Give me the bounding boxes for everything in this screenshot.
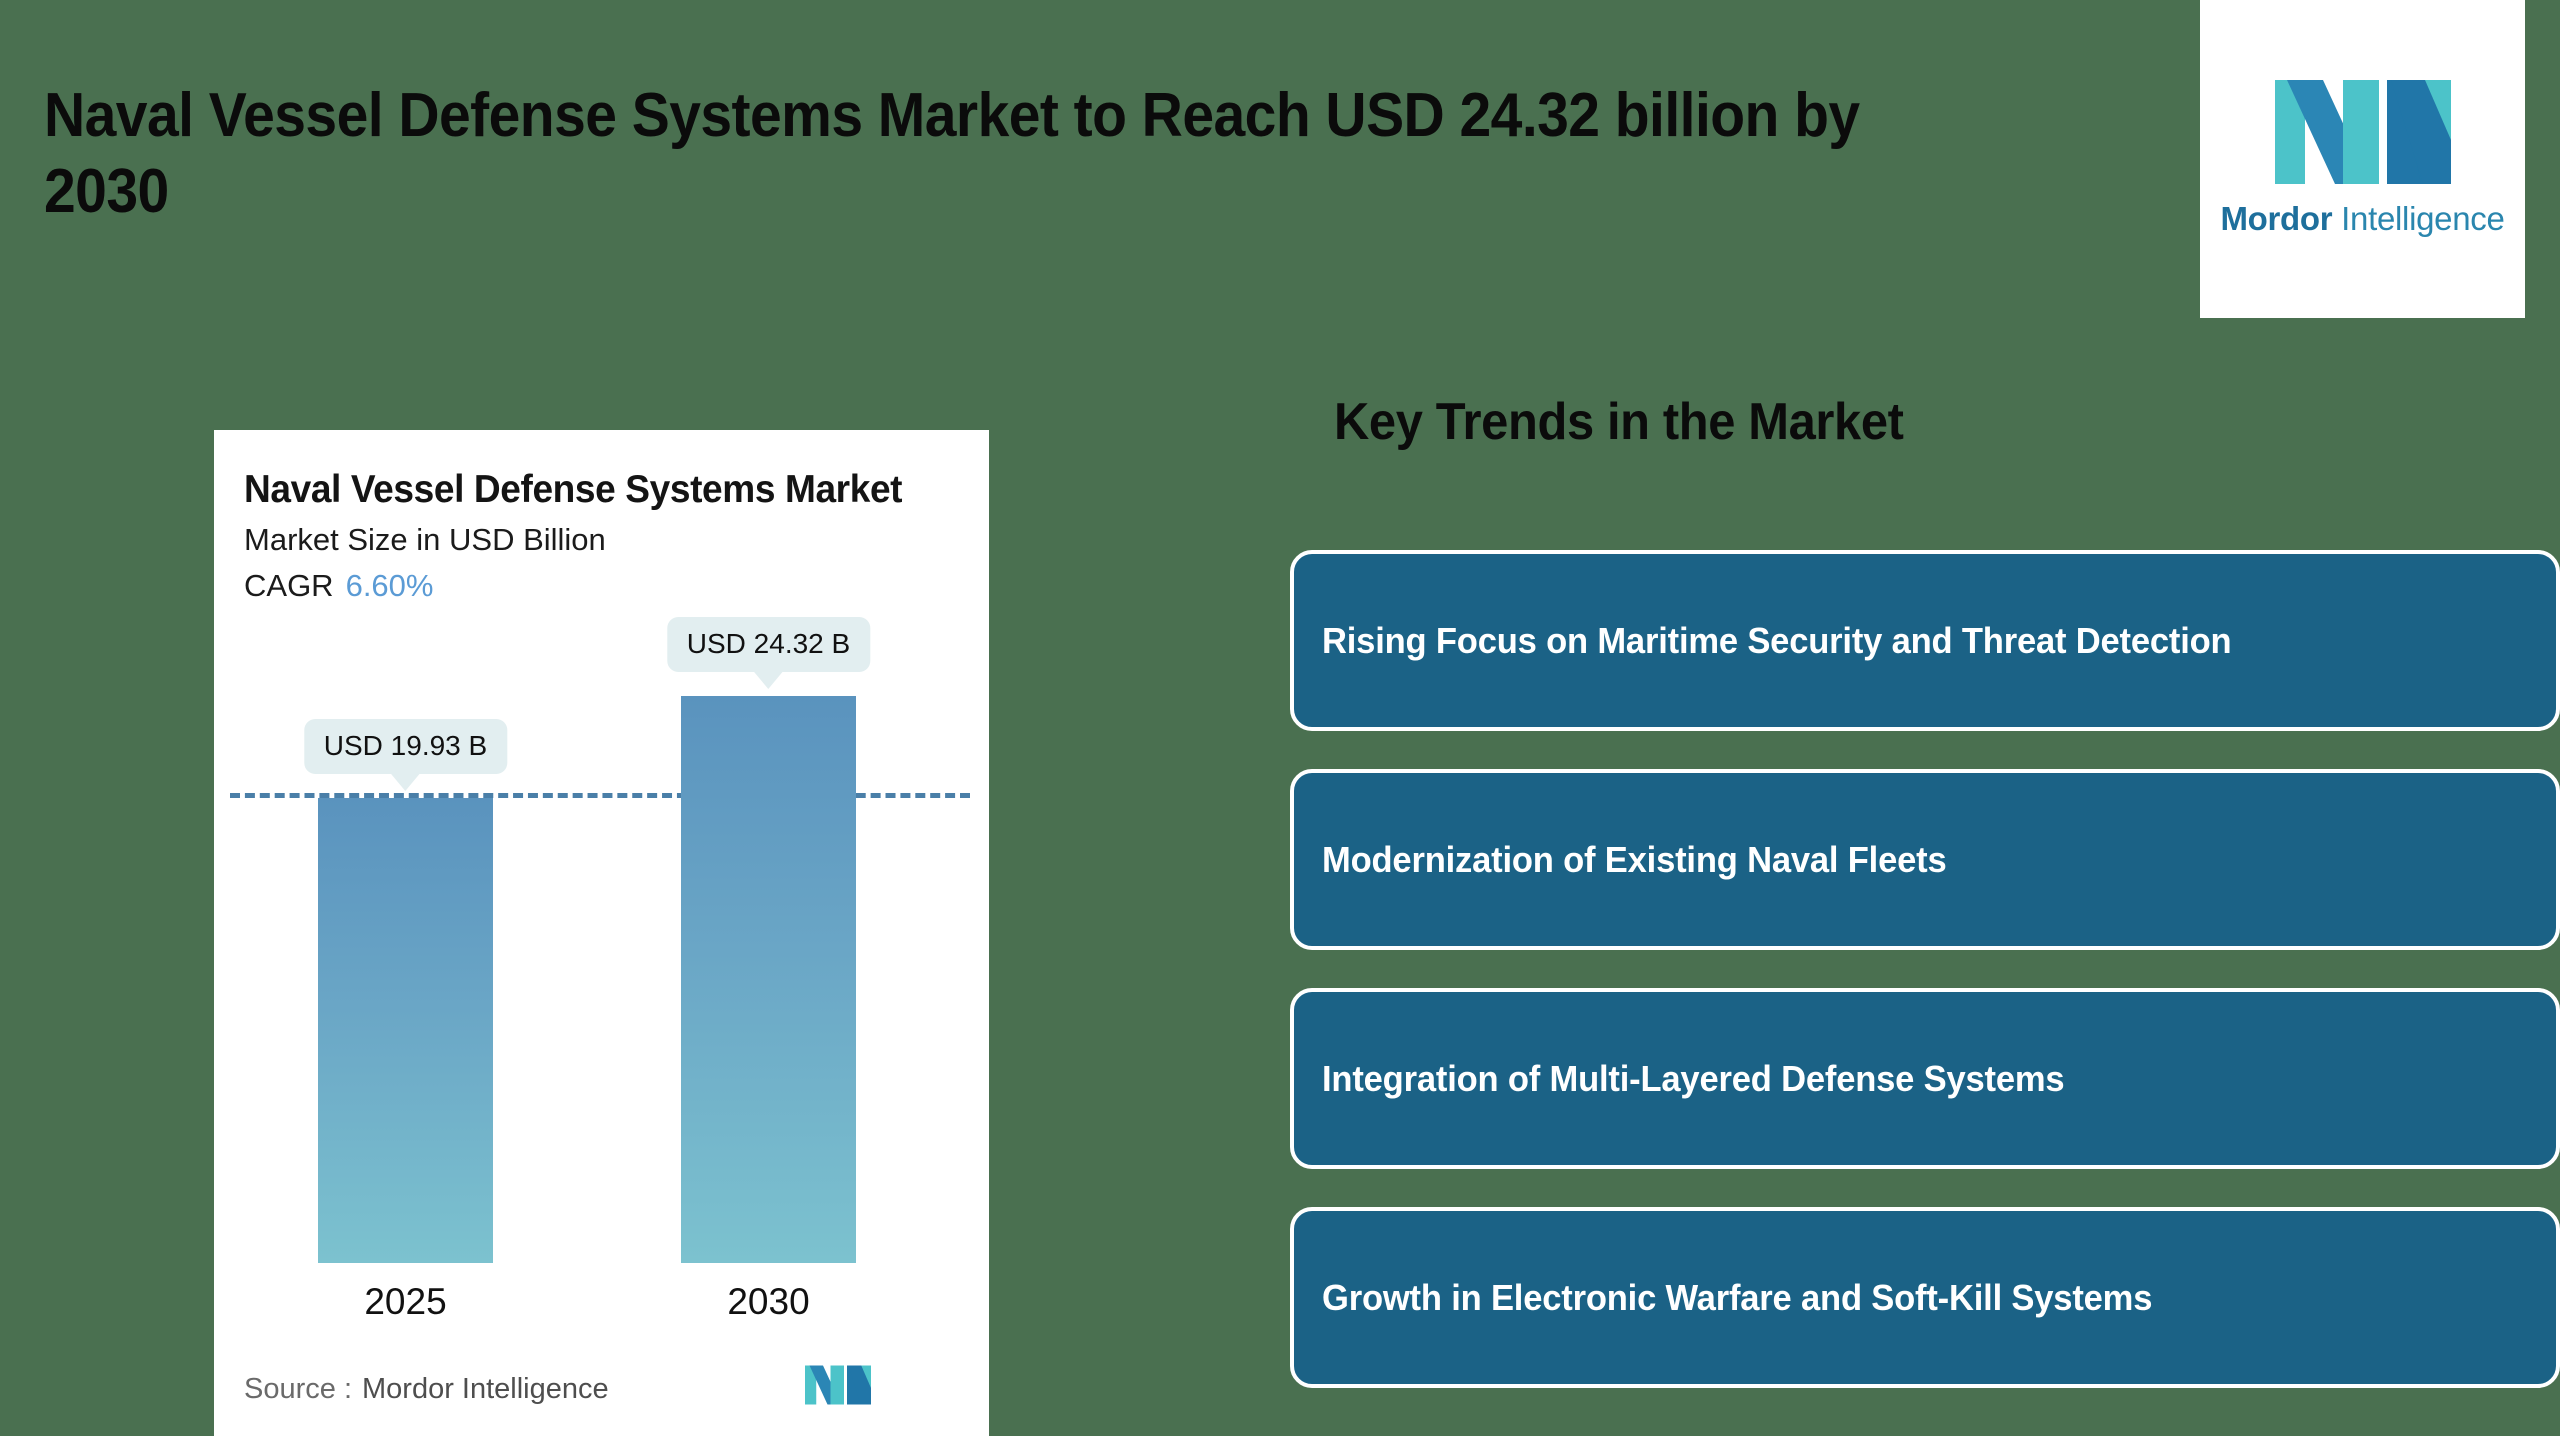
mordor-logo-icon	[2275, 80, 2451, 184]
brand-logo-box: Mordor Intelligence	[2200, 0, 2525, 318]
brand-name-bold: Mordor	[2220, 200, 2332, 237]
page-headline: Naval Vessel Defense Systems Market to R…	[44, 78, 1985, 229]
chart-cagr-row: CAGR6.60%	[244, 568, 433, 604]
source-name: Mordor Intelligence	[362, 1373, 609, 1405]
chart-subtitle: Market Size in USD Billion	[244, 522, 606, 558]
cagr-value: 6.60%	[346, 568, 434, 603]
trend-card-4[interactable]: Growth in Electronic Warfare and Soft-Ki…	[1290, 1207, 2560, 1388]
x-axis-tick-2030: 2030	[727, 1281, 809, 1323]
x-axis-tick-2025: 2025	[364, 1281, 446, 1323]
cagr-label: CAGR	[244, 568, 334, 603]
chart-card: Naval Vessel Defense Systems Market Mark…	[214, 430, 989, 1436]
trend-card-label: Integration of Multi-Layered Defense Sys…	[1322, 1057, 2064, 1100]
trend-card-3[interactable]: Integration of Multi-Layered Defense Sys…	[1290, 988, 2560, 1169]
chart-title: Naval Vessel Defense Systems Market	[244, 468, 902, 512]
mordor-logo-small-icon	[805, 1360, 871, 1410]
bar-value-label-2030: USD 24.32 B	[667, 617, 870, 672]
trend-card-label: Modernization of Existing Naval Fleets	[1322, 838, 1946, 881]
chart-source: Source :Mordor Intelligence	[244, 1373, 609, 1406]
brand-name-light: Intelligence	[2332, 200, 2504, 237]
bar-value-label-2025: USD 19.93 B	[304, 719, 507, 774]
bar-chart-plot-area: USD 19.93 B USD 24.32 B 2025 2030	[214, 645, 989, 1325]
trend-card-2[interactable]: Modernization of Existing Naval Fleets	[1290, 769, 2560, 950]
trend-card-label: Rising Focus on Maritime Security and Th…	[1322, 619, 2231, 662]
bar-2030	[681, 696, 856, 1263]
brand-wordmark: Mordor Intelligence	[2220, 200, 2504, 238]
trend-card-1[interactable]: Rising Focus on Maritime Security and Th…	[1290, 550, 2560, 731]
bar-2025	[318, 798, 493, 1263]
key-trends-list: Rising Focus on Maritime Security and Th…	[1290, 550, 2560, 1426]
key-trends-heading: Key Trends in the Market	[1334, 392, 1904, 452]
source-label: Source :	[244, 1373, 352, 1405]
trend-card-label: Growth in Electronic Warfare and Soft-Ki…	[1322, 1276, 2152, 1319]
